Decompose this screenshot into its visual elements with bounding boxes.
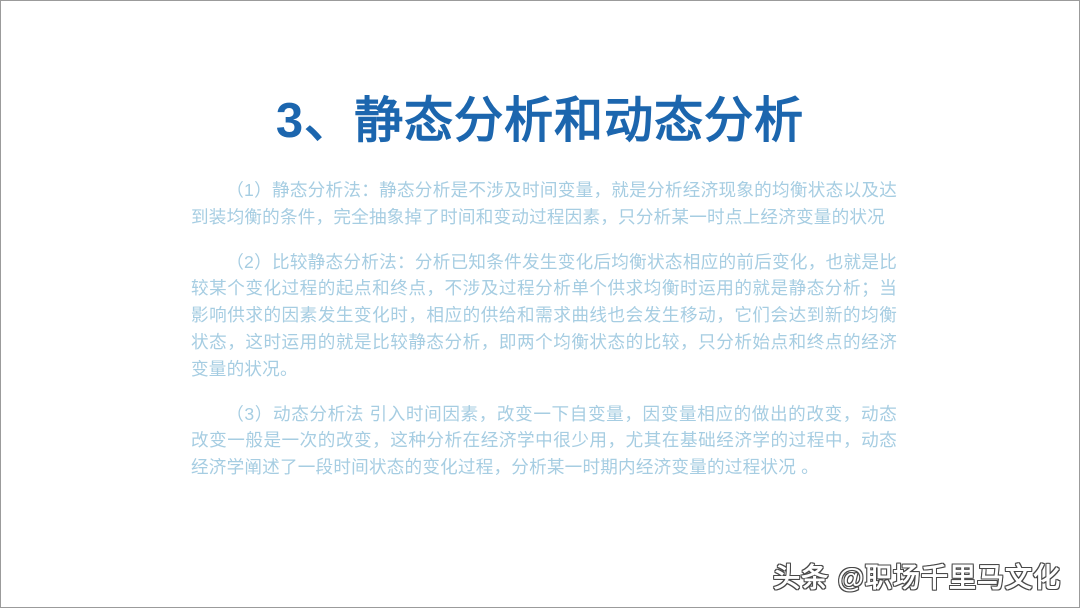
paragraph-static-analysis: （1）静态分析法：静态分析是不涉及时间变量，就是分析经济现象的均衡状态以及达到装… (191, 177, 897, 231)
paragraph-dynamic-analysis: （3）动态分析法 引入时间因素，改变一下自变量，因变量相应的做出的改变，动态改变… (191, 401, 897, 481)
paragraph-comparative-static-analysis: （2）比较静态分析法：分析已知条件发生变化后均衡状态相应的前后变化，也就是比较某… (191, 249, 897, 383)
slide-canvas: 3、静态分析和动态分析 （1）静态分析法：静态分析是不涉及时间变量，就是分析经济… (0, 0, 1080, 608)
body-text-block: （1）静态分析法：静态分析是不涉及时间变量，就是分析经济现象的均衡状态以及达到装… (191, 177, 897, 481)
page-title: 3、静态分析和动态分析 (1, 90, 1079, 152)
watermark: 头条 @职场千里马文化 (773, 561, 1061, 595)
